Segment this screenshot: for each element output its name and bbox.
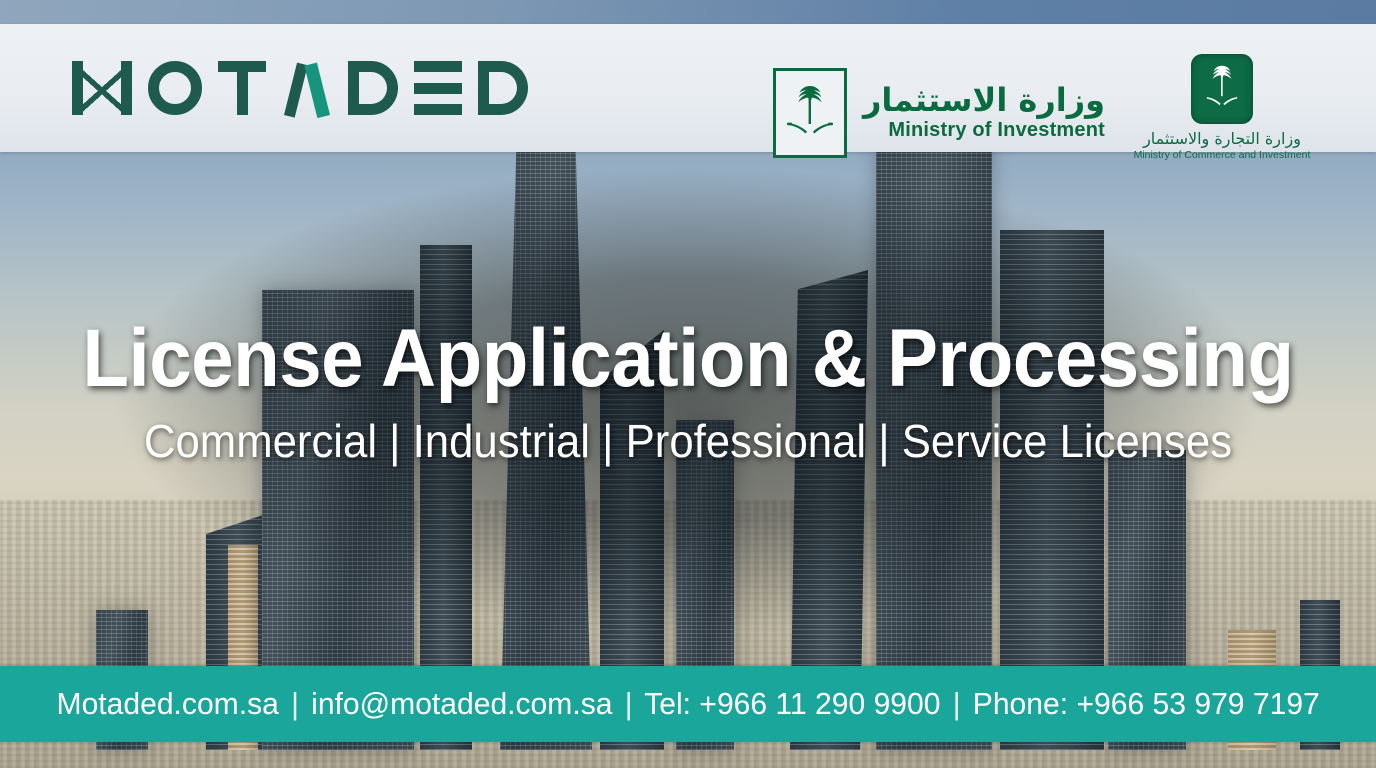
saudi-emblem-icon [773,68,847,158]
logo-letter-a [282,61,332,115]
ministry-of-investment-text: وزارة الاستثمار Ministry of Investment [863,84,1105,142]
ministry-of-investment-logo: وزارة الاستثمار Ministry of Investment [773,68,1105,158]
logo-letter-o [148,61,202,115]
top-sky-strip [0,0,1376,24]
tel-label: Tel: [644,686,691,721]
website-link[interactable]: Motaded.com.sa [56,686,278,721]
separator-1: | [287,686,303,721]
logo-letter-m [72,61,132,115]
email-link[interactable]: info@motaded.com.sa [311,686,612,721]
phone-number[interactable]: +966 53 979 7197 [1076,686,1319,721]
page-title: License Application & Processing [48,318,1328,400]
logo-letter-t [218,61,266,115]
ministry-of-commerce-arabic: وزارة التجارة والاستثمار [1143,129,1301,148]
motaded-logo[interactable] [72,59,528,117]
poster-canvas: وزارة الاستثمار Ministry of Investment و… [0,0,1376,768]
logo-letter-d1 [348,61,398,115]
ministry-of-investment-arabic: وزارة الاستثمار [863,84,1105,118]
ministry-of-commerce-english: Ministry of Commerce and Investment [1134,149,1311,161]
tel-number[interactable]: +966 11 290 9900 [699,686,940,721]
header-banner: وزارة الاستثمار Ministry of Investment و… [0,24,1376,152]
phone-label: Phone: [973,686,1068,721]
ministry-of-investment-english: Ministry of Investment [888,119,1105,142]
saudi-shield-icon [1191,54,1253,124]
contact-bar: Motaded.com.sa | info@motaded.com.sa | T… [0,666,1376,742]
separator-3: | [949,686,965,721]
page-subtitle: Commercial | Industrial | Professional |… [34,414,1341,468]
logo-letter-d2 [478,61,528,115]
logo-letter-e [414,61,462,115]
contact-line: Motaded.com.sa | info@motaded.com.sa | T… [56,686,1319,722]
separator-2: | [621,686,637,721]
ministry-of-commerce-logo: وزارة التجارة والاستثمار Ministry of Com… [1122,54,1322,161]
hero-text-block: License Application & Processing Commerc… [0,318,1376,468]
